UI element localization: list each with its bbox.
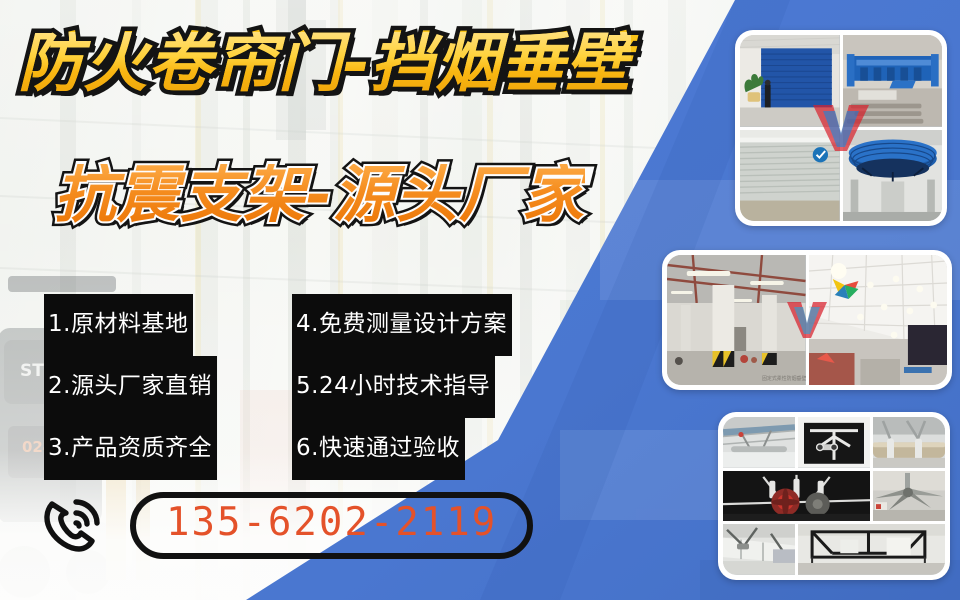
photo-corrugated-shutter bbox=[740, 130, 840, 222]
photo-black-seismic-frame bbox=[798, 524, 945, 575]
feature-item: 3.产品资质齐全 bbox=[44, 418, 217, 480]
feature-list: 1.原材料基地 4.免费测量设计方案 2.源头厂家直销 5.24小时技术指导 3… bbox=[44, 294, 564, 480]
photo-bracket-detail-dark bbox=[798, 417, 870, 468]
feature-item: 1.原材料基地 bbox=[44, 294, 193, 356]
photo-red-industrial-fan bbox=[723, 471, 870, 522]
panel-seismic-bracket-installations bbox=[718, 412, 950, 580]
headline-secondary: 抗震支架-源头厂家 bbox=[54, 164, 585, 226]
feature-item: 5.24小时技术指导 bbox=[292, 356, 495, 418]
advertisement-poster: STILL 0248 bbox=[0, 0, 960, 600]
photo-shutter-lobby bbox=[740, 35, 840, 127]
phone-number: 135-6202-2119 bbox=[166, 501, 497, 546]
feature-item: 2.源头厂家直销 bbox=[44, 356, 217, 418]
contact-row: 135-6202-2119 bbox=[40, 492, 533, 559]
photo-ceiling-grid bbox=[809, 255, 948, 385]
panel-fire-shutter-products bbox=[735, 30, 947, 226]
phone-ringing-icon bbox=[40, 492, 108, 558]
photo-roll-forming-machine bbox=[843, 35, 943, 127]
headline-primary: 防火卷帘门-挡烟垂壁 bbox=[18, 32, 631, 96]
panel-parking-garage-projects: 固定式柔性防烟垂壁 bbox=[662, 250, 952, 390]
photo-shutter-drum bbox=[843, 130, 943, 222]
photo-duct-seismic-bracing bbox=[723, 524, 795, 575]
feature-item: 6.快速通过验收 bbox=[292, 418, 465, 480]
phone-number-pill[interactable]: 135-6202-2119 bbox=[130, 492, 533, 559]
photo-pipe-clamp-collars bbox=[873, 417, 945, 468]
photo-underground-garage: 固定式柔性防烟垂壁 bbox=[667, 255, 806, 385]
feature-item: 4.免费测量设计方案 bbox=[292, 294, 512, 356]
svg-text:固定式柔性防烟垂壁: 固定式柔性防烟垂壁 bbox=[762, 375, 806, 382]
photo-hvls-ceiling-fan bbox=[873, 471, 945, 522]
photo-ceiling-pipe-brace bbox=[723, 417, 795, 468]
